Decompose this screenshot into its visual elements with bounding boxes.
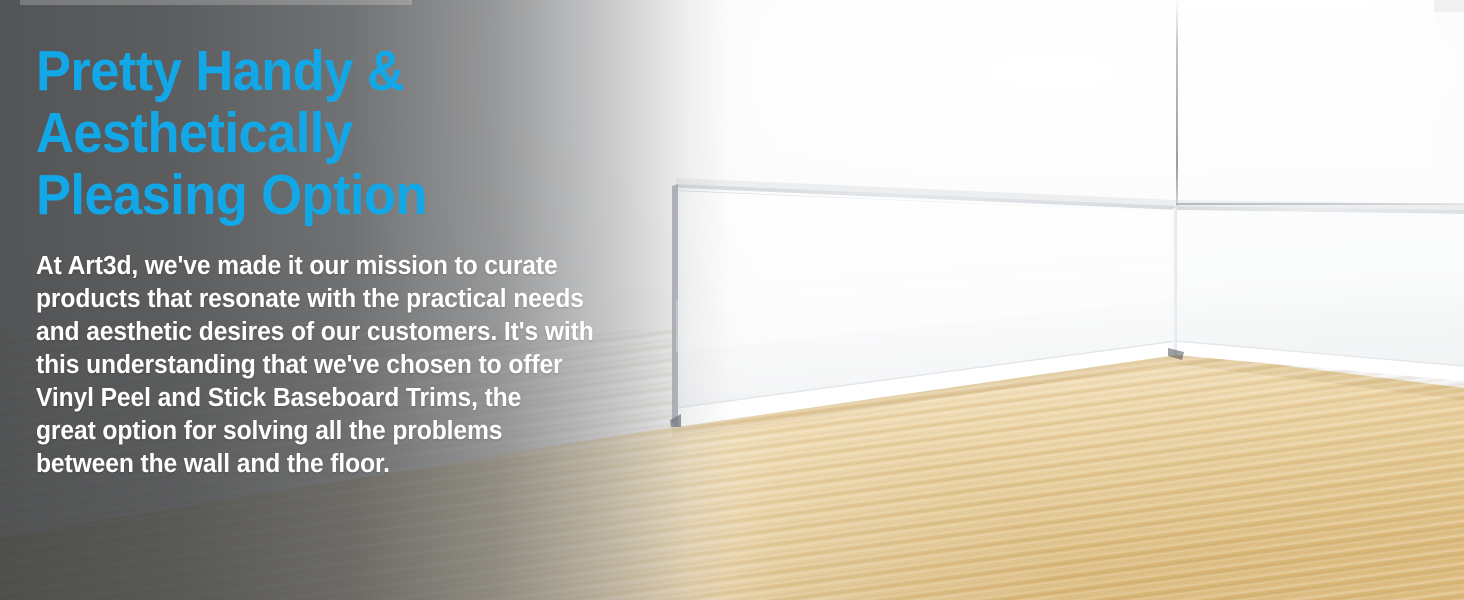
promo-banner: Pretty Handy & Aesthetically Pleasing Op… [0,0,1464,600]
body-paragraph: At Art3d, we've made it our mission to c… [36,250,654,481]
copy-block: Pretty Handy & Aesthetically Pleasing Op… [36,40,676,481]
headline: Pretty Handy & Aesthetically Pleasing Op… [36,40,625,226]
